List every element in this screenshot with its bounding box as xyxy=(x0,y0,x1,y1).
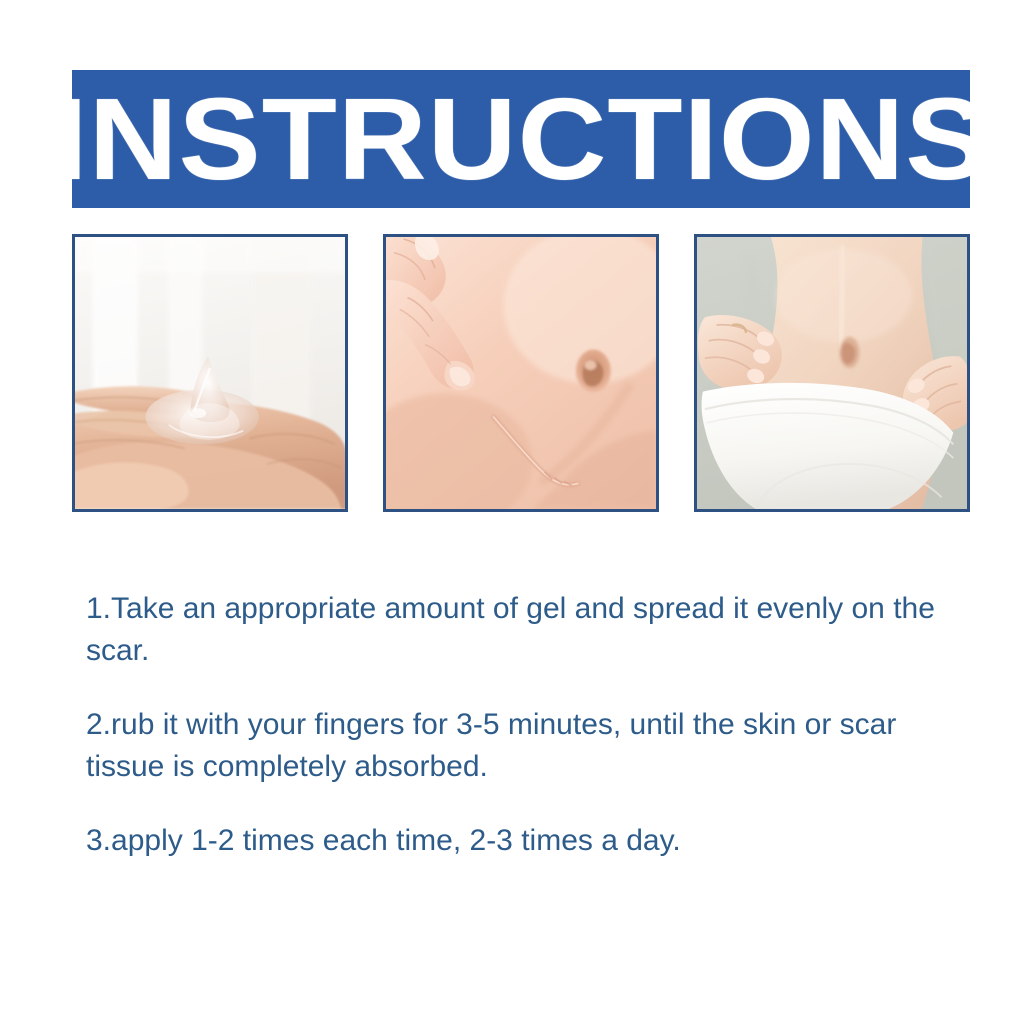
photo-gel-in-palm xyxy=(72,234,348,512)
photo-row xyxy=(72,234,970,514)
instruction-steps: 1.Take an appropriate amount of gel and … xyxy=(86,588,972,862)
instruction-step-3: 3.apply 1-2 times each time, 2-3 times a… xyxy=(86,820,964,862)
title-banner: INSTRUCTIONS xyxy=(72,70,970,208)
scar-application-illustration xyxy=(386,237,656,509)
gel-in-palm-illustration xyxy=(75,237,345,509)
photo-smooth-abdomen-result xyxy=(694,234,970,512)
instructions-poster: INSTRUCTIONS xyxy=(0,0,1024,1024)
page-title: INSTRUCTIONS xyxy=(72,81,970,197)
instruction-step-1: 1.Take an appropriate amount of gel and … xyxy=(86,588,964,672)
abdomen-result-illustration xyxy=(697,237,967,509)
instruction-step-2: 2.rub it with your fingers for 3-5 minut… xyxy=(86,704,964,788)
photo-applying-gel-to-scar xyxy=(383,234,659,512)
